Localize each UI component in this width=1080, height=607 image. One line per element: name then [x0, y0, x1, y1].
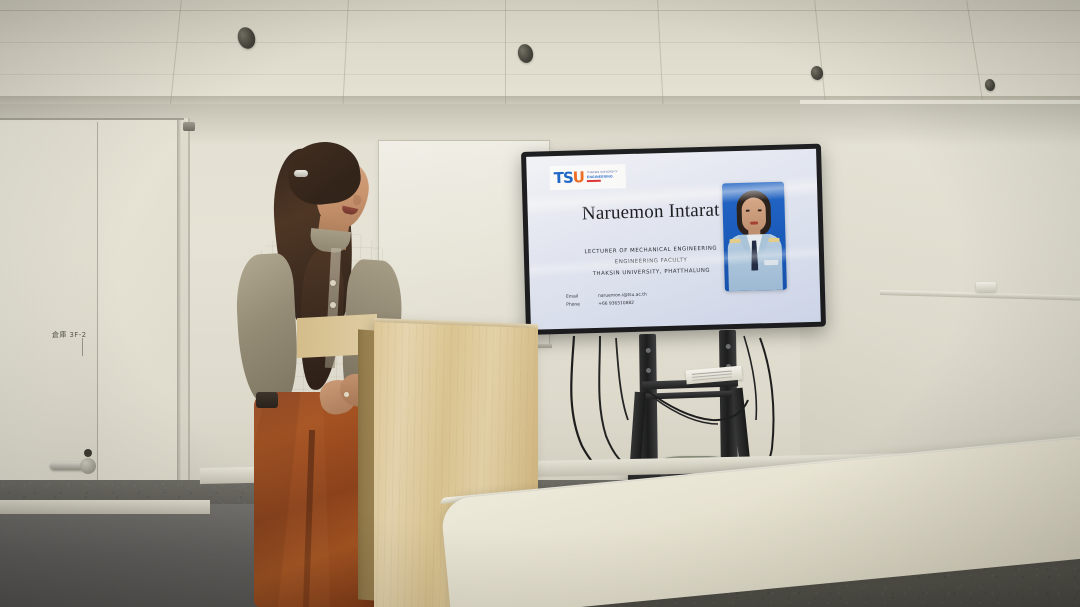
- door-leaf-left[interactable]: 倉庫 3F-2: [0, 122, 98, 514]
- ceiling-downlight-2: [516, 42, 535, 64]
- logo-ts-text: TS: [553, 168, 573, 187]
- logo-accent-bar: [587, 180, 601, 182]
- logo-u-text: U: [573, 168, 585, 186]
- door-header-rail: [0, 118, 184, 120]
- wall-outlet[interactable]: [976, 282, 996, 292]
- presenter-belt-tab: [256, 392, 278, 408]
- room-photo: 倉庫 3F-2 TSU THAKSIN UNIVERSITY ENGINEERI…: [0, 0, 1080, 607]
- ceiling-downlight-1: [235, 25, 258, 51]
- wall-display[interactable]: TSU THAKSIN UNIVERSITY ENGINEERING Narue…: [521, 144, 826, 335]
- slide-phone-label: Phone: [566, 301, 590, 309]
- slide-phone-value: +66 936510882: [598, 300, 634, 309]
- presenter-hair-tie: [294, 170, 308, 177]
- portrait-mouth: [750, 221, 758, 224]
- portrait-epaulet-right: [769, 238, 780, 242]
- door-leaf-right[interactable]: [99, 120, 177, 512]
- ceiling-downlight-4: [984, 78, 996, 92]
- portrait-eye-right: [758, 209, 762, 211]
- presenter-nose: [353, 195, 362, 206]
- presenter-ring: [344, 392, 349, 397]
- presenter-mouth: [341, 206, 358, 216]
- door-sign-rule: [82, 338, 83, 356]
- door-lock-icon[interactable]: [84, 449, 92, 457]
- door-lever-handle[interactable]: [50, 462, 88, 470]
- presenter-button-2: [330, 302, 336, 308]
- presenter-button-1: [330, 280, 336, 286]
- display-screen[interactable]: TSU THAKSIN UNIVERSITY ENGINEERING Narue…: [526, 149, 821, 330]
- wall-baseboard-left: [0, 500, 210, 514]
- door-stop-top: [183, 122, 195, 131]
- slide-contact-block: Email naruemon.i@tsu.ac.th Phone +66 936…: [566, 292, 647, 310]
- portrait-eye-left: [746, 210, 750, 212]
- portrait-epaulet-left: [730, 239, 741, 243]
- logo-subtitle-main: ENGINEERING: [587, 175, 618, 180]
- tsu-logo: TSU THAKSIN UNIVERSITY ENGINEERING: [549, 164, 626, 190]
- door-center-gap: [177, 120, 181, 516]
- presenter-sleeve-left: [234, 253, 300, 406]
